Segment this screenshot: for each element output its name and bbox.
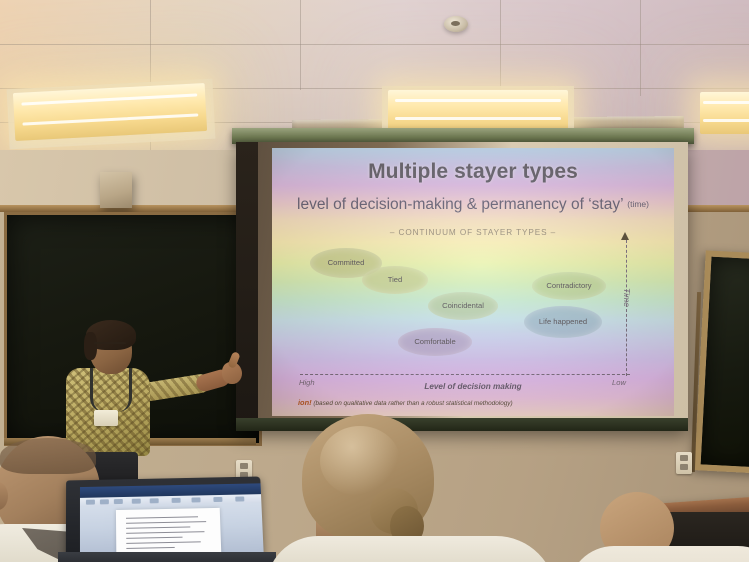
x-axis-title: Level of decision making bbox=[272, 382, 674, 391]
x-axis-line bbox=[300, 374, 630, 375]
slide-subtitle: level of decision-making & permanency of… bbox=[272, 196, 674, 214]
audience-center-shoulders bbox=[266, 536, 556, 562]
footnote-lead: ion! bbox=[298, 398, 312, 407]
laptop-lid bbox=[66, 476, 264, 558]
footnote-rest: (based on qualitative data rather than a… bbox=[313, 400, 512, 407]
laptop-base bbox=[58, 552, 276, 562]
ceiling-light-3 bbox=[700, 92, 749, 134]
slide-subtitle-main: level of decision-making & permanency of… bbox=[297, 196, 623, 213]
presentation-photo-scene: Multiple stayer types level of decision-… bbox=[0, 0, 749, 562]
audience-center-hair-highlight bbox=[320, 426, 400, 496]
wall-speaker bbox=[100, 172, 132, 208]
laptop-screen bbox=[80, 483, 264, 557]
laptop bbox=[58, 478, 276, 562]
y-axis-arrow-icon bbox=[621, 232, 629, 240]
smoke-detector-icon bbox=[444, 16, 468, 32]
slide-title: Multiple stayer types bbox=[272, 160, 674, 184]
audience-left-hair bbox=[0, 438, 96, 474]
presenter-name-badge bbox=[94, 410, 118, 426]
wall-outlet-right bbox=[676, 452, 692, 474]
audience-member-right bbox=[588, 492, 749, 562]
slide-subtitle-small: (time) bbox=[627, 199, 649, 209]
projected-slide: Multiple stayer types level of decision-… bbox=[272, 148, 674, 416]
bubble-comfortable: Comfortable bbox=[398, 328, 472, 356]
bubble-contradictory: Contradictory bbox=[532, 272, 606, 300]
glasses-icon bbox=[94, 342, 126, 352]
stayer-types-diagram: Committed Tied Coincidental Contradictor… bbox=[300, 244, 646, 374]
ceiling-light-1 bbox=[13, 83, 207, 141]
bubble-life-happened: Life happened bbox=[524, 306, 602, 338]
bubble-tied: Tied bbox=[362, 266, 428, 294]
screen-left-shadow bbox=[236, 142, 258, 430]
y-axis-line bbox=[626, 240, 627, 376]
y-axis-title: Time bbox=[622, 288, 632, 307]
slide-footnote: ion! (based on qualitative data rather t… bbox=[298, 398, 674, 407]
audience-right-shoulders bbox=[568, 546, 749, 562]
laptop-document-page bbox=[116, 508, 221, 557]
bubble-coincidental: Coincidental bbox=[428, 292, 498, 320]
audience-member-center bbox=[282, 414, 532, 562]
presenter-lanyard bbox=[90, 368, 132, 412]
continuum-header: – CONTINUUM OF STAYER TYPES – bbox=[272, 228, 674, 237]
